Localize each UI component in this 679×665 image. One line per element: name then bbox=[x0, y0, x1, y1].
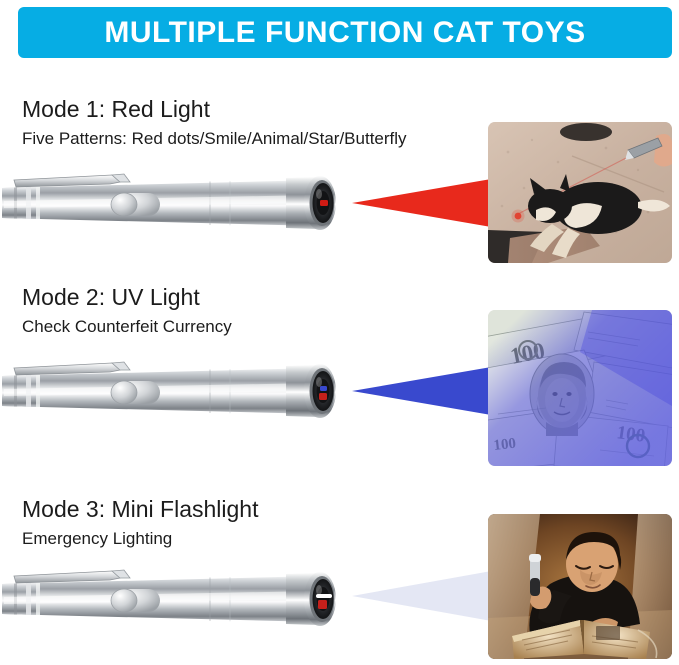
mode-3-subtitle: Emergency Lighting bbox=[22, 529, 172, 549]
photo-cat-chasing-laser bbox=[488, 122, 672, 263]
page-title: MULTIPLE FUNCTION CAT TOYS bbox=[104, 16, 585, 50]
flashlight-illustration-3 bbox=[0, 556, 380, 642]
flashlight-illustration-2 bbox=[0, 348, 380, 434]
photo-banknotes-under-uv: 100 100 100 bbox=[488, 310, 672, 466]
mode-section-2: Mode 2: UV Light Check Counterfeit Curre… bbox=[0, 284, 679, 484]
flashlight-power-button bbox=[111, 193, 160, 216]
flashlight-power-button bbox=[111, 589, 160, 612]
flashlight-power-button bbox=[111, 381, 160, 404]
flashlight-illustration-1 bbox=[0, 160, 380, 246]
mode-2-heading: Mode 2: UV Light bbox=[22, 284, 200, 311]
mode-3-heading: Mode 3: Mini Flashlight bbox=[22, 496, 259, 523]
mode-1-heading: Mode 1: Red Light bbox=[22, 96, 210, 123]
mode-section-3: Mode 3: Mini Flashlight Emergency Lighti… bbox=[0, 496, 679, 665]
photo-boy-reading-with-flashlight bbox=[488, 514, 672, 659]
mode-1-subtitle: Five Patterns: Red dots/Smile/Animal/Sta… bbox=[22, 129, 407, 149]
mode-2-subtitle: Check Counterfeit Currency bbox=[22, 317, 232, 337]
title-banner: MULTIPLE FUNCTION CAT TOYS bbox=[18, 7, 672, 58]
mode-section-1: Mode 1: Red Light Five Patterns: Red dot… bbox=[0, 96, 679, 286]
page-header: MULTIPLE FUNCTION CAT TOYS bbox=[18, 7, 672, 58]
